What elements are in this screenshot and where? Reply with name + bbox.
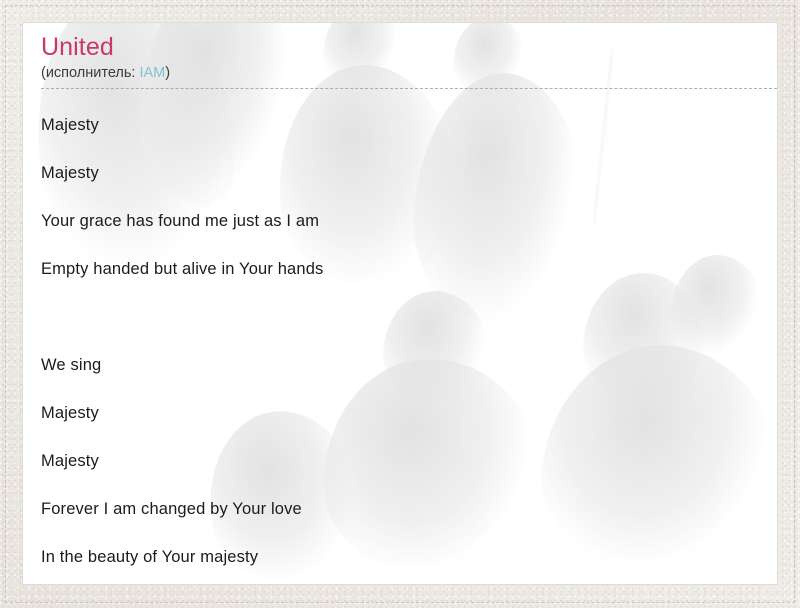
lyric-line: Forever I am changed by Your love [41,485,757,533]
byline-suffix-label: ) [165,65,170,81]
lyric-line: Your grace has found me just as I am [41,197,757,245]
lyric-line-blank [41,293,757,341]
lyric-line: Majesty [41,101,757,149]
lyrics-card: United (исполнитель: IAM) Majesty Majest… [22,22,778,585]
lyric-line: Majesty [41,149,757,197]
song-title: United [41,33,759,62]
lyric-line: Majesty [41,389,757,437]
lyric-line: In the beauty of Your majesty [41,533,757,581]
song-header: United (исполнитель: IAM) [41,33,759,83]
lyric-line: We sing [41,341,757,389]
lyric-line: Empty handed but alive in Your hands [41,245,757,293]
lyric-line: Majesty [41,437,757,485]
byline-prefix-label: (исполнитель: [41,65,139,81]
artist-link[interactable]: IAM [139,65,165,81]
header-divider [41,88,777,89]
song-byline: (исполнитель: IAM) [41,64,759,83]
lyrics-body: Majesty Majesty Your grace has found me … [41,101,757,581]
